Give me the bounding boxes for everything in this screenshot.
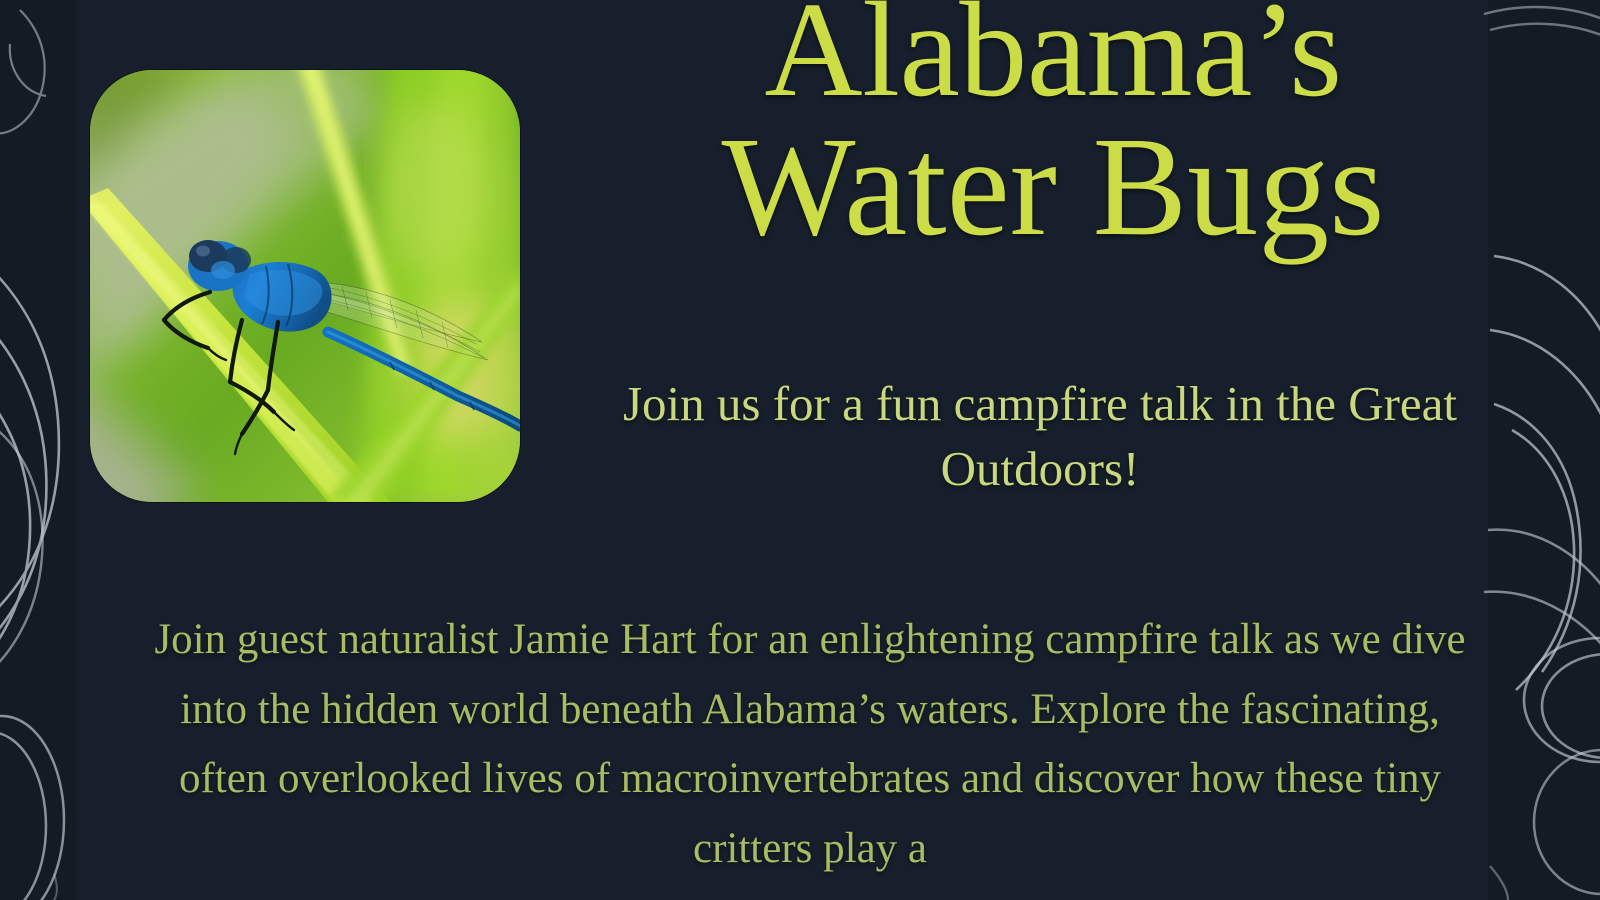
poster-subtitle: Join us for a fun campfire talk in the G… (560, 372, 1520, 501)
poster-title: Alabama’s Water Bugs (548, 0, 1558, 256)
poster-body-text: Join guest naturalist Jamie Hart for an … (150, 605, 1470, 884)
poster-title-line-2: Water Bugs (548, 117, 1558, 256)
damselfly-photo-inner (90, 70, 520, 502)
poster-title-line-1: Alabama’s (548, 0, 1558, 117)
poster-canvas: Alabama’s Water Bugs Join us for a fun c… (0, 0, 1600, 900)
damselfly-illustration-icon (90, 70, 520, 502)
left-decoration-band (0, 0, 76, 900)
damselfly-photo (90, 70, 520, 502)
